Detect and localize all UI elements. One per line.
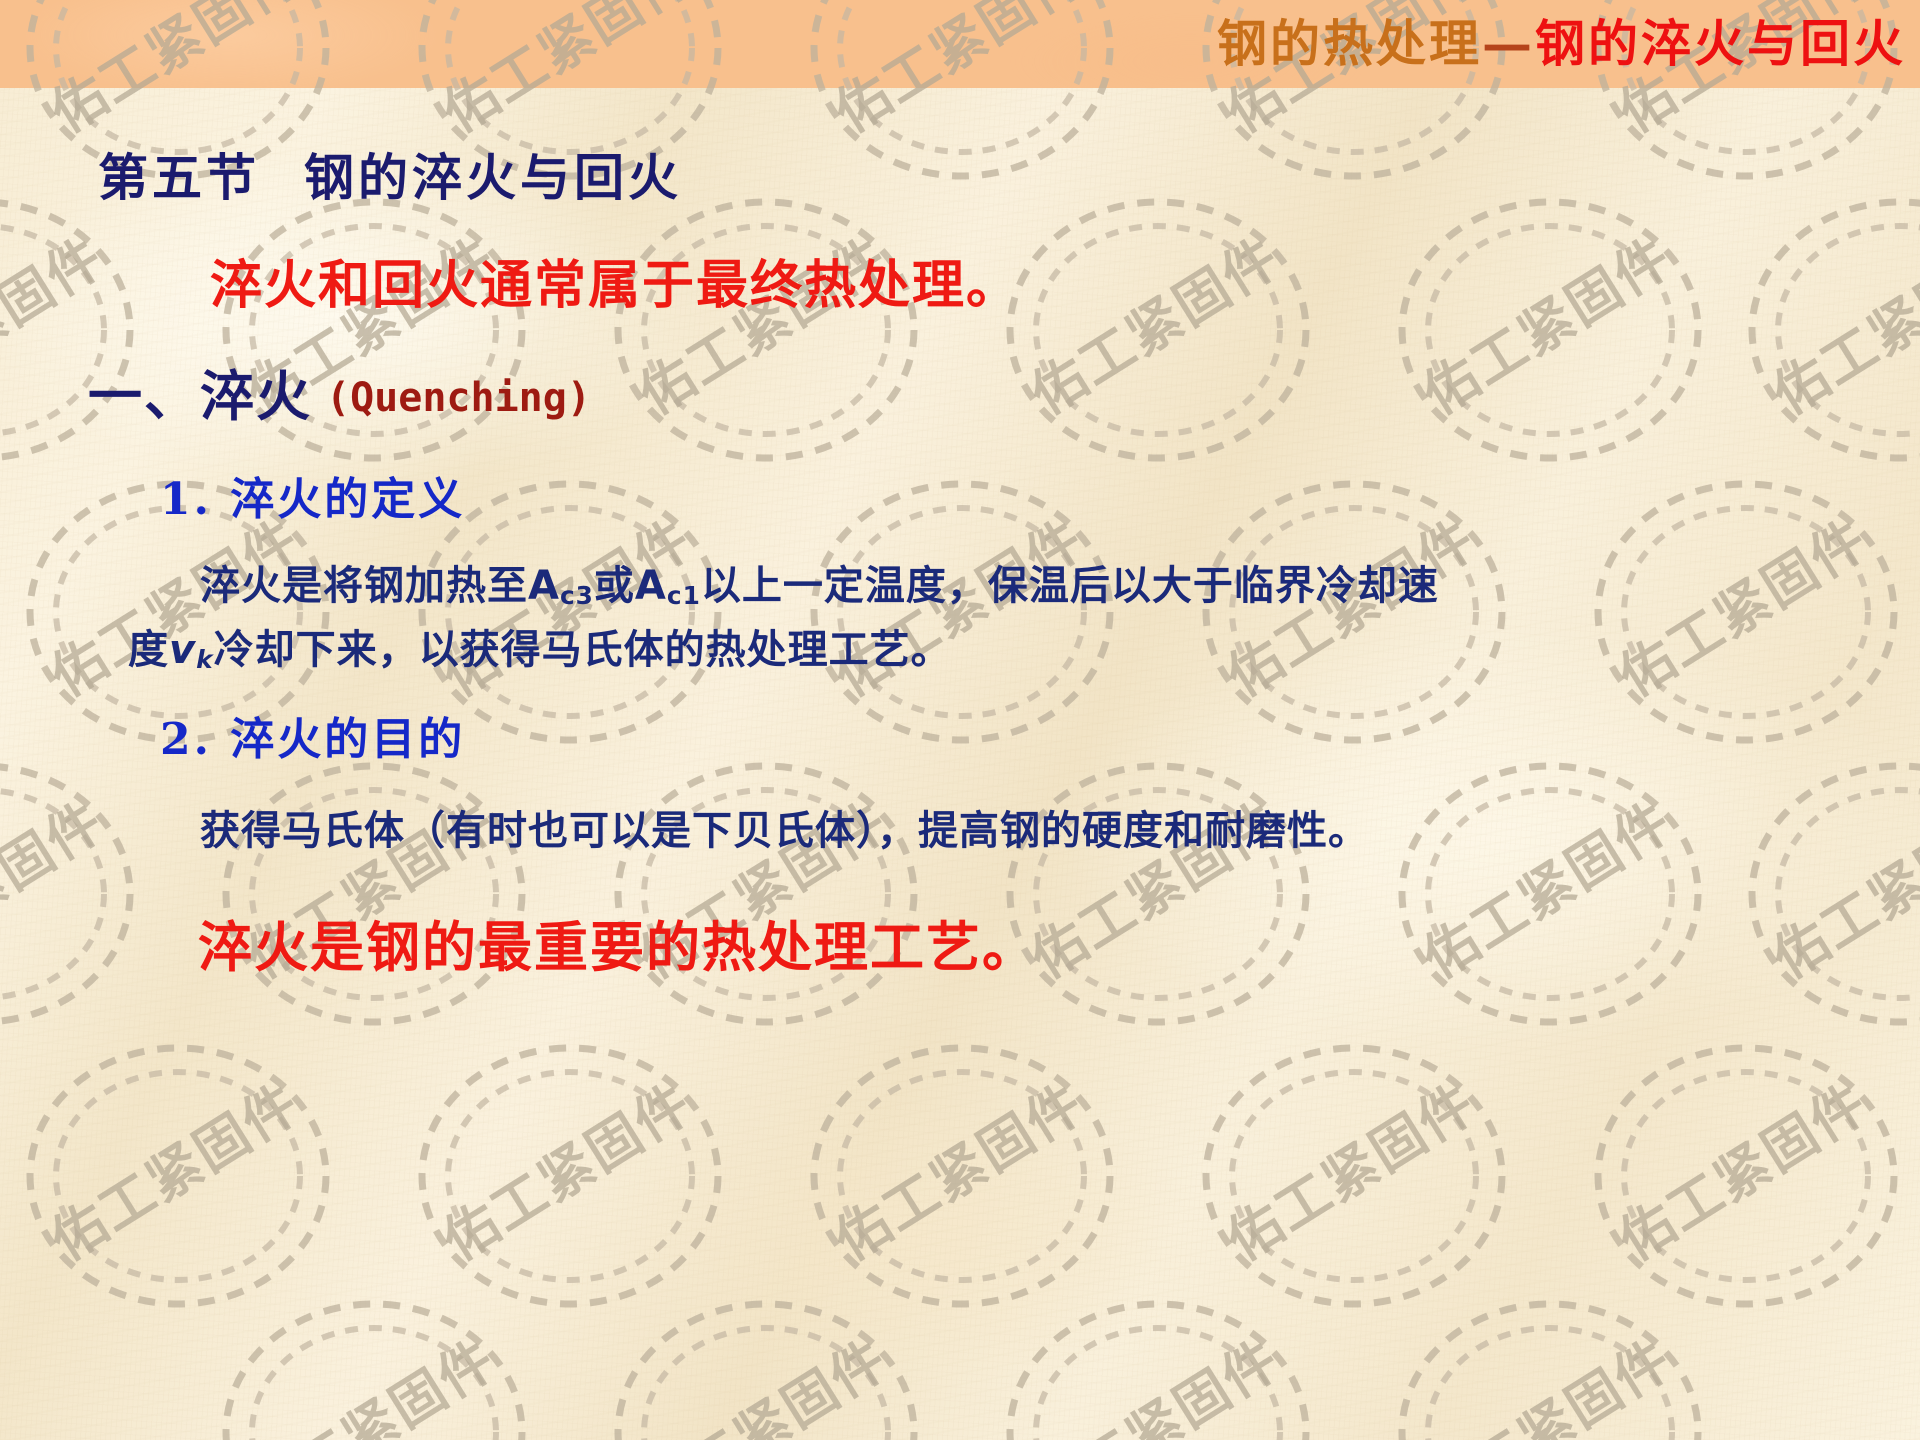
symbol-ac1-sub: c1 <box>667 581 701 610</box>
definition-line-1: 淬火是将钢加热至Ac3或Ac1以上一定温度，保温后以大于临界冷却速 <box>200 553 1439 611</box>
symbol-ac1-base: A <box>635 563 667 609</box>
heading-quenching-label: 一、淬火 <box>88 364 312 428</box>
header-title-accent: 钢的淬火与回火 <box>1535 14 1906 73</box>
sub-heading-purpose: 2. 淬火的目的 <box>160 703 465 767</box>
sub-heading-definition: 1. 淬火的定义 <box>160 463 465 527</box>
definition-line2-a: 度 <box>128 626 169 673</box>
section-number: 第五节 <box>98 148 260 207</box>
section-name: 钢的淬火与回火 <box>304 148 682 207</box>
symbol-ac3-sub: c3 <box>560 581 594 610</box>
heading-quenching: 一、淬火(Quenching) <box>88 352 591 431</box>
definition-text-b: 或 <box>594 562 635 609</box>
definition-text-a: 淬火是将钢加热至 <box>200 562 528 609</box>
slide-canvas: 佑工紧固件 <box>0 0 1920 1440</box>
symbol-ac1: Ac1 <box>635 563 701 609</box>
symbol-vk-base: v <box>169 627 196 673</box>
header-title-main: 钢的热处理 <box>1217 14 1482 73</box>
definition-line2-b: 冷却下来，以获得马氏体的热处理工艺。 <box>214 626 952 673</box>
symbol-vk-sub: k <box>196 645 214 674</box>
symbol-ac3: Ac3 <box>528 563 594 609</box>
header-title: 钢的热处理—钢的淬火与回火 <box>1217 4 1906 84</box>
purpose-text: 获得马氏体（有时也可以是下贝氏体），提高钢的硬度和耐磨性。 <box>200 798 1369 856</box>
conclusion-statement: 淬火是钢的最重要的热处理工艺。 <box>198 903 1038 982</box>
heading-quenching-english: (Quenching) <box>326 375 591 421</box>
symbol-ac3-base: A <box>528 563 560 609</box>
lead-statement: 淬火和回火通常属于最终热处理。 <box>210 243 1020 318</box>
header-title-dash: — <box>1482 14 1535 73</box>
definition-line-2: 度vk冷却下来，以获得马氏体的热处理工艺。 <box>128 617 952 675</box>
section-title: 第五节钢的淬火与回火 <box>98 138 682 210</box>
slide-content: 第五节钢的淬火与回火 淬火和回火通常属于最终热处理。 一、淬火(Quenchin… <box>0 0 1920 1440</box>
definition-text-c: 以上一定温度，保温后以大于临界冷却速 <box>701 562 1439 609</box>
symbol-vk: vk <box>169 627 214 673</box>
